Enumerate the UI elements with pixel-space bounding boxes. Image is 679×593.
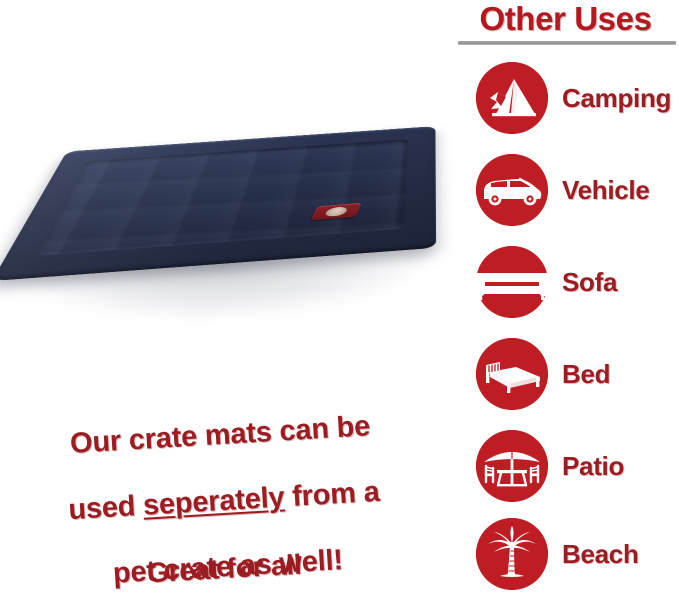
crate-mat-illustration xyxy=(0,43,455,310)
use-row-beach: Beach xyxy=(452,518,679,590)
mat-quilted-surface xyxy=(36,139,408,256)
use-row-sofa: Sofa xyxy=(452,246,679,318)
mat-stitching-texture xyxy=(36,139,408,256)
tent-icon xyxy=(476,62,548,134)
use-row-camping: Camping xyxy=(452,62,679,134)
patio-umbrella-icon xyxy=(476,430,548,502)
promo-line-2-before: used xyxy=(68,490,145,526)
other-uses-panel: Other Uses xyxy=(452,0,679,593)
use-row-vehicle: Vehicle xyxy=(452,154,679,226)
use-label-patio: Patio xyxy=(562,451,624,482)
sofa-icon xyxy=(476,246,548,318)
use-label-bed: Bed xyxy=(562,359,610,390)
promo-line-2-after: from a xyxy=(283,476,380,514)
promo-line-1: Our crate mats can be xyxy=(19,407,420,464)
use-label-camping: Camping xyxy=(562,83,671,114)
promo-line-2-underlined: seperately xyxy=(142,482,285,522)
other-uses-title: Other Uses xyxy=(452,0,679,38)
palm-tree-icon xyxy=(476,518,548,590)
use-label-vehicle: Vehicle xyxy=(562,175,650,206)
use-row-bed: Bed xyxy=(452,338,679,410)
use-row-patio: Patio xyxy=(452,430,679,502)
marketing-image: Our crate mats can be used seperately fr… xyxy=(0,0,679,593)
bed-icon xyxy=(476,338,548,410)
car-icon xyxy=(476,154,548,226)
use-label-sofa: Sofa xyxy=(562,267,617,298)
title-divider xyxy=(458,41,676,45)
product-photo xyxy=(0,0,446,340)
promo-line-4: Great for all xyxy=(44,543,405,593)
use-label-beach: Beach xyxy=(562,539,639,570)
